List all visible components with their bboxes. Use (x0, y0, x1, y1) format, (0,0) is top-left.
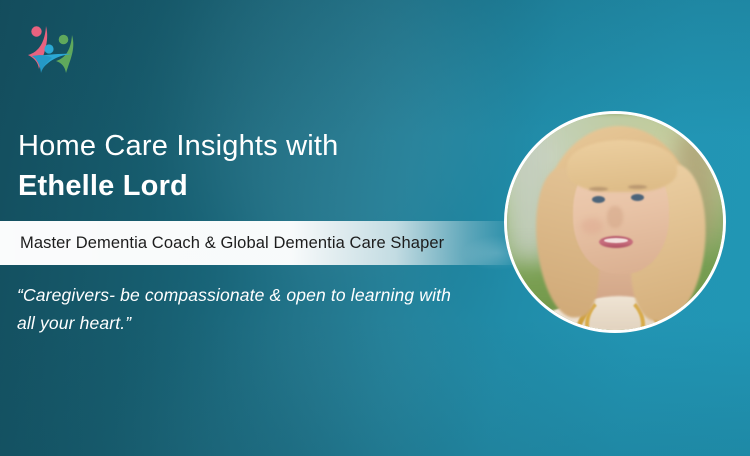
portrait-eye-left (592, 196, 605, 203)
portrait-eyebrow-left (589, 187, 608, 191)
logo-pink-head (31, 26, 41, 36)
home-care-insights-banner: Home Care Insights with Ethelle Lord Mas… (0, 0, 750, 456)
three-people-logo (18, 22, 84, 80)
portrait-nose (607, 206, 623, 228)
page-title: Home Care Insights with Ethelle Lord (18, 128, 488, 205)
portrait-eyebrow-right (628, 185, 647, 189)
portrait-hair-fringe (567, 140, 677, 192)
portrait-avatar (504, 111, 726, 333)
subtitle-bar: Master Dementia Coach & Global Dementia … (0, 221, 520, 265)
logo-blue-accent (32, 55, 52, 73)
subtitle-text: Master Dementia Coach & Global Dementia … (0, 234, 444, 253)
quote-text: “Caregivers- be compassionate & open to … (17, 281, 469, 337)
portrait-eye-right (631, 194, 644, 201)
logo-blue-head (44, 44, 53, 53)
title-line-2: Ethelle Lord (18, 167, 488, 205)
portrait-teeth (604, 238, 628, 243)
logo-green-head (59, 35, 69, 45)
portrait-cheek (581, 218, 603, 234)
title-line-1: Home Care Insights with (18, 128, 488, 166)
